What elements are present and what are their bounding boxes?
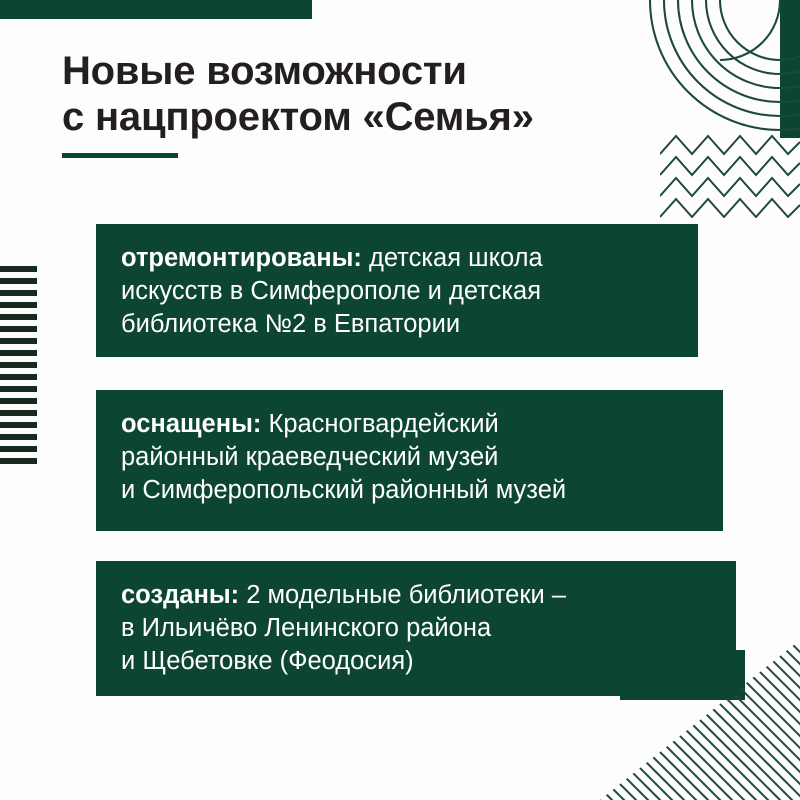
content-lead-label: созданы: <box>121 581 239 609</box>
page-title-line-1: Новые возможности <box>62 48 682 94</box>
content-line-1-rest: Красногвардейский <box>261 410 498 438</box>
top-left-green-bar <box>0 0 312 19</box>
content-box-renovated: отремонтированы: детская школа искусств … <box>96 224 698 357</box>
title-underline-rule <box>62 153 178 158</box>
content-lead-label: оснащены: <box>121 410 261 438</box>
content-line: и Симферопольский районный музей <box>121 474 701 507</box>
page-title: Новые возможности с нацпроектом «Семья» <box>62 48 682 141</box>
content-line: отремонтированы: детская школа <box>121 242 676 275</box>
content-box-created: созданы: 2 модельные библиотеки – в Ильи… <box>96 561 736 696</box>
content-line: искусств в Симферополе и детская <box>121 275 676 308</box>
content-line: и Щебетовке (Феодосия) <box>121 645 714 678</box>
content-line: созданы: 2 модельные библиотеки – <box>121 579 714 612</box>
content-line-1-rest: детская школа <box>362 244 543 272</box>
page-title-line-2: с нацпроектом «Семья» <box>62 94 682 140</box>
zigzag-chevron-icon <box>660 132 800 218</box>
content-box-equipped: оснащены: Красногвардейский районный кра… <box>96 390 723 531</box>
horizontal-stripes-icon <box>0 266 37 467</box>
poster-canvas: Новые возможности с нацпроектом «Семья» … <box>0 0 800 800</box>
content-line: в Ильичёво Ленинского района <box>121 612 714 645</box>
content-line: оснащены: Красногвардейский <box>121 408 701 441</box>
content-line: библиотека №2 в Евпатории <box>121 308 676 341</box>
content-lead-label: отремонтированы: <box>121 244 362 272</box>
content-line: районный краеведческий музей <box>121 441 701 474</box>
content-line-1-rest: 2 модельные библиотеки – <box>239 581 566 609</box>
